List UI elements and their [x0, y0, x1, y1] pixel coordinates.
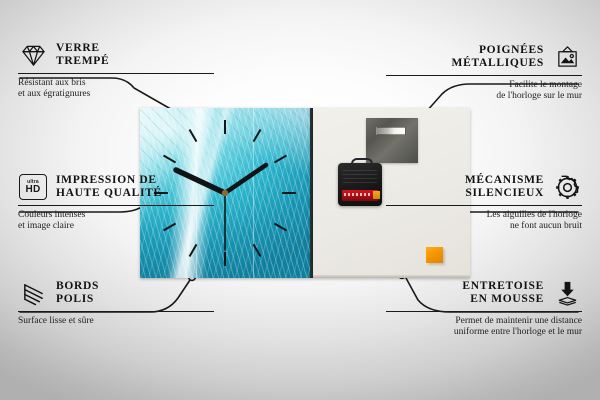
foam-spacer	[426, 247, 443, 263]
feature-divider	[18, 73, 214, 74]
hands-center-cap	[222, 190, 228, 196]
feature-title: ENTRETOISEEN MOUSSE	[462, 280, 544, 307]
movement-hanger-hook	[351, 158, 373, 167]
feature-divider	[386, 75, 582, 76]
bracket-slot	[376, 127, 406, 135]
feature-title: VERRETREMPÉ	[56, 42, 109, 69]
feature-description: Surface lisse et sûre	[18, 316, 214, 327]
polished-edges-icon	[18, 278, 48, 308]
feature-title: BORDSPOLIS	[56, 280, 99, 307]
feature-bords-polis: BORDSPOLIS Surface lisse et sûre	[18, 278, 214, 327]
battery	[342, 190, 378, 201]
feature-divider	[18, 311, 214, 312]
arrow-onto-layers-icon	[552, 278, 582, 308]
ultra-hd-badge-icon: ultra HD	[18, 172, 48, 202]
feature-entretoise-en-mousse: ENTRETOISEEN MOUSSE Permet de maintenir …	[386, 278, 582, 338]
feature-title: POIGNÉESMÉTALLIQUES	[452, 44, 544, 71]
feature-divider	[386, 205, 582, 206]
feature-title: IMPRESSION DEHAUTE QUALITÉ	[56, 174, 162, 201]
diamond-icon	[18, 40, 48, 70]
gear-icon	[552, 172, 582, 202]
movement-label-lines	[343, 170, 377, 186]
feature-impression-haute-qualite: ultra HD IMPRESSION DEHAUTE QUALITÉ Coul…	[18, 172, 214, 232]
metal-bracket	[366, 118, 418, 163]
clock-movement-box	[338, 163, 382, 206]
feature-description: Facilite le montagede l'horloge sur le m…	[386, 80, 582, 102]
minute-hand	[225, 165, 266, 193]
feature-verre-trempe: VERRETREMPÉ Résistant aux briset aux égr…	[18, 40, 214, 100]
feature-divider	[18, 205, 214, 206]
feature-mecanisme-silencieux: MÉCANISMESILENCIEUX Les aiguilles de l'h…	[386, 172, 582, 232]
infographic-canvas: VERRETREMPÉ Résistant aux briset aux égr…	[0, 0, 600, 400]
feature-divider	[386, 311, 582, 312]
feature-title: MÉCANISMESILENCIEUX	[465, 174, 544, 201]
feature-poignees-metalliques: POIGNÉESMÉTALLIQUES Facilite le montaged…	[386, 42, 582, 102]
feature-description: Résistant aux briset aux égratignures	[18, 78, 214, 100]
battery-label	[344, 193, 372, 196]
feature-description: Les aiguilles de l'horlogene font aucun …	[386, 210, 582, 232]
feature-description: Couleurs intenseset image claire	[18, 210, 214, 232]
hd-label: HD	[25, 185, 40, 195]
feature-description: Permet de maintenir une distanceuniforme…	[386, 316, 582, 338]
hanging-frame-icon	[552, 42, 582, 72]
